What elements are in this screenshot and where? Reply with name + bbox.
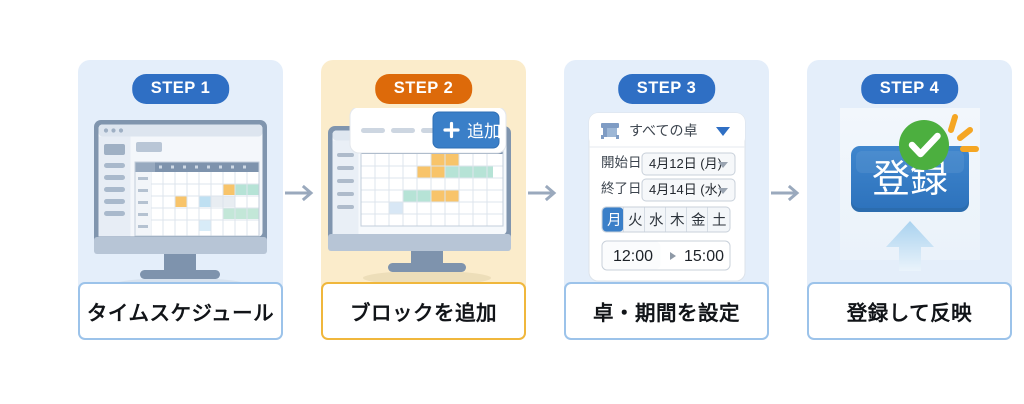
step-3-label: 卓・期間を設定 <box>564 282 769 340</box>
step-1-illustration <box>78 108 283 308</box>
arrow-right-icon <box>528 182 562 204</box>
time-range-row: 12:00 15:00 <box>602 241 730 270</box>
step-2-label: ブロックを追加 <box>321 282 526 340</box>
weekday-4: 金 <box>691 212 706 229</box>
table-icon <box>601 123 619 139</box>
step-4-illustration: 登録 <box>807 108 1012 308</box>
step-2-badge: STEP 2 <box>375 74 473 104</box>
arrow-2-3 <box>526 60 564 345</box>
settings-panel-icon: すべての卓 開始日 4月12日 (月) 終了日 <box>564 108 769 308</box>
step-1-label: タイムスケジュール <box>78 282 283 340</box>
check-circle-icon <box>899 120 949 170</box>
step-3-badge: STEP 3 <box>618 74 716 104</box>
weekday-5: 土 <box>712 212 727 229</box>
step-flow: STEP 1 <box>78 60 946 345</box>
weekday-1: 火 <box>628 213 643 229</box>
arrow-3-4 <box>769 60 807 345</box>
arrow-1-2 <box>283 60 321 345</box>
step-2-card: STEP 2 <box>321 60 526 308</box>
step-4-label: 登録して反映 <box>807 282 1012 340</box>
weekday-3: 木 <box>670 212 685 229</box>
start-date-label: 開始日 <box>601 155 642 170</box>
step-2: STEP 2 <box>321 60 526 345</box>
infographic-root: STEP 1 <box>0 0 1024 404</box>
step-3-card: STEP 3 <box>564 60 769 308</box>
add-button-label: 追加 <box>467 122 501 141</box>
register-button-icon: 登録 <box>807 108 1012 308</box>
arrow-right-icon <box>771 182 805 204</box>
step-2-illustration: 追加 <box>321 108 526 308</box>
arrow-right-icon <box>285 182 319 204</box>
weekday-2: 水 <box>649 212 664 229</box>
step-4-card: STEP 4 <box>807 60 1012 308</box>
monitor-add-popup-icon: 追加 <box>321 108 526 308</box>
monitor-schedule-icon <box>78 108 283 308</box>
start-date-value: 4月12日 (月) <box>649 156 722 171</box>
end-date-label: 終了日 <box>601 181 642 196</box>
select-value-text: すべての卓 <box>629 123 697 139</box>
step-4-badge: STEP 4 <box>861 74 959 104</box>
time-to-value: 15:00 <box>684 248 724 265</box>
weekday-0: 月 <box>607 213 622 229</box>
step-3: STEP 3 <box>564 60 769 345</box>
step-4: STEP 4 <box>807 60 1012 345</box>
step-1-badge: STEP 1 <box>132 74 230 104</box>
time-from-value: 12:00 <box>613 248 653 265</box>
end-date-value: 4月14日 (水) <box>649 182 722 197</box>
add-popup: 追加 <box>350 108 506 153</box>
step-1-card: STEP 1 <box>78 60 283 308</box>
weekday-selector: 月 火 水 木 金 土 <box>602 207 730 232</box>
table-select-row: すべての卓 <box>589 113 745 147</box>
step-1: STEP 1 <box>78 60 283 345</box>
step-3-illustration: すべての卓 開始日 4月12日 (月) 終了日 <box>564 108 769 308</box>
